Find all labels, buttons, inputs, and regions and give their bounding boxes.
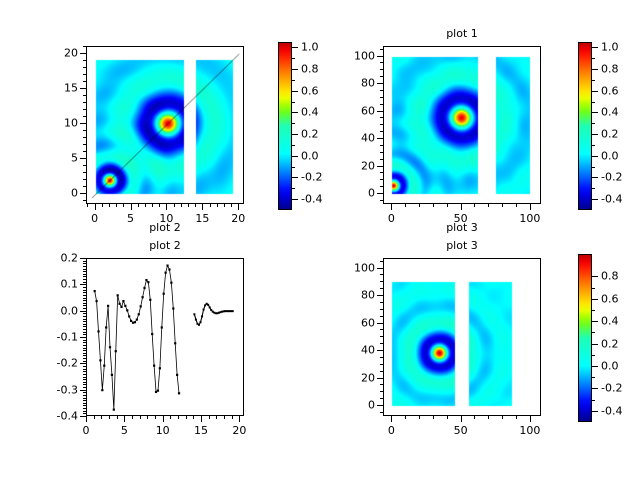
y-minor-tick xyxy=(380,288,383,289)
x-minor-tick xyxy=(101,416,102,419)
x-minor-tick xyxy=(447,204,448,207)
data-point xyxy=(195,319,197,321)
data-point xyxy=(198,324,200,326)
x-minor-tick xyxy=(152,204,153,207)
x-minor-tick xyxy=(181,204,182,207)
data-point xyxy=(176,374,178,376)
x-minor-tick xyxy=(405,416,406,419)
y-minor-tick xyxy=(83,342,86,343)
data-point xyxy=(153,365,155,367)
x-tick xyxy=(131,204,132,210)
colorbar-tick xyxy=(592,112,598,113)
data-point xyxy=(151,333,153,335)
y-tick-label: 10 xyxy=(56,118,78,129)
y-minor-tick xyxy=(83,279,86,280)
y-tick xyxy=(377,83,383,84)
colorbar-minor-tick xyxy=(592,310,595,311)
y-tick-label: 100 xyxy=(353,262,375,273)
y-minor-tick xyxy=(83,263,86,264)
colorbar-minor-tick xyxy=(592,188,595,189)
y-minor-tick xyxy=(83,403,86,404)
data-point xyxy=(134,321,136,323)
colorbar-minor-tick xyxy=(592,355,595,356)
colorbar-minor-tick xyxy=(592,58,595,59)
y-minor-tick xyxy=(380,179,383,180)
x-tick xyxy=(461,204,462,210)
x-minor-tick xyxy=(138,204,139,207)
x-tick xyxy=(391,204,392,210)
y-minor-tick xyxy=(83,179,86,180)
x-tick-label: 5 xyxy=(121,425,128,436)
y-minor-tick xyxy=(380,186,383,187)
y-minor-tick xyxy=(380,357,383,358)
y-minor-tick xyxy=(380,69,383,70)
data-point xyxy=(172,307,174,309)
y-tick xyxy=(80,311,86,312)
panel-top-left-axes xyxy=(86,46,244,204)
colorbar-tick xyxy=(592,91,598,92)
y-tick xyxy=(377,405,383,406)
colorbar-minor-tick xyxy=(592,377,595,378)
y-minor-tick xyxy=(83,295,86,296)
data-point xyxy=(168,268,170,270)
colorbar-minor-tick xyxy=(292,80,295,81)
y-tick-label: 0.2 xyxy=(56,253,78,264)
data-point xyxy=(207,304,209,306)
y-minor-tick xyxy=(380,200,383,201)
y-minor-tick xyxy=(380,391,383,392)
colorbar-tick-label: 0.0 xyxy=(601,150,619,161)
colorbar-tick xyxy=(592,388,598,389)
y-tick-label: 15 xyxy=(56,83,78,94)
data-point xyxy=(115,350,117,352)
colorbar-tick-label: 0.0 xyxy=(601,361,619,372)
y-minor-tick xyxy=(380,412,383,413)
y-minor-tick xyxy=(83,350,86,351)
data-point xyxy=(170,282,172,284)
y-tick xyxy=(80,123,86,124)
figure-canvas: 05101520051015201.00.80.60.40.20.0-0.2-0… xyxy=(0,0,640,480)
data-point xyxy=(94,290,96,292)
y-minor-tick xyxy=(83,266,86,267)
y-minor-tick xyxy=(380,159,383,160)
colorbar-tick-label: 0.6 xyxy=(601,293,619,304)
y-minor-tick xyxy=(83,67,86,68)
y-minor-tick xyxy=(83,371,86,372)
y-minor-tick xyxy=(83,413,86,414)
x-minor-tick xyxy=(195,204,196,207)
colorbar-tick xyxy=(592,156,598,157)
colorbar-tick xyxy=(592,299,598,300)
y-tick xyxy=(377,295,383,296)
y-minor-tick xyxy=(83,408,86,409)
colorbar-minor-tick xyxy=(592,102,595,103)
panel-top-left-xlabel: plot 2 xyxy=(86,222,244,234)
x-tick-label: 0 xyxy=(83,425,90,436)
y-minor-tick xyxy=(380,336,383,337)
x-minor-tick xyxy=(178,416,179,419)
data-point xyxy=(201,315,203,317)
y-minor-tick xyxy=(380,104,383,105)
y-minor-tick xyxy=(380,364,383,365)
x-tick xyxy=(95,204,96,210)
x-minor-tick xyxy=(210,204,211,207)
colorbar-tick xyxy=(292,134,298,135)
x-minor-tick xyxy=(419,204,420,207)
x-minor-tick xyxy=(231,204,232,207)
y-tick xyxy=(80,363,86,364)
colorbar-tick xyxy=(592,366,598,367)
x-minor-tick xyxy=(488,204,489,207)
colorbar-minor-tick xyxy=(292,123,295,124)
y-minor-tick xyxy=(380,302,383,303)
panel-bottom-left-lines xyxy=(87,259,244,416)
x-minor-tick xyxy=(174,204,175,207)
y-minor-tick xyxy=(380,62,383,63)
x-minor-tick xyxy=(405,204,406,207)
panel-top-left-image xyxy=(87,47,244,204)
y-tick xyxy=(377,378,383,379)
colorbar-tick xyxy=(292,177,298,178)
y-tick xyxy=(377,138,383,139)
y-minor-tick xyxy=(83,361,86,362)
colorbar-minor-tick xyxy=(292,102,295,103)
colorbar-tick xyxy=(292,91,298,92)
y-minor-tick xyxy=(83,60,86,61)
panel-top-right-image xyxy=(384,47,541,204)
colorbar-tick-label: 1.0 xyxy=(601,42,619,53)
y-tick-label: 60 xyxy=(353,317,375,328)
y-minor-tick xyxy=(83,348,86,349)
x-minor-tick xyxy=(224,416,225,419)
y-minor-tick xyxy=(83,358,86,359)
panel-top-right-title: plot 1 xyxy=(383,28,541,40)
y-tick-label: 0.1 xyxy=(56,279,78,290)
y-minor-tick xyxy=(83,340,86,341)
panel-bottom-right-image xyxy=(384,259,541,416)
x-minor-tick xyxy=(123,204,124,207)
x-tick xyxy=(530,416,531,422)
data-point xyxy=(128,315,130,317)
data-point xyxy=(99,359,101,361)
y-minor-tick xyxy=(83,186,86,187)
colorbar-tick-label: 0.4 xyxy=(301,107,319,118)
y-minor-tick xyxy=(83,165,86,166)
y-minor-tick xyxy=(83,81,86,82)
x-minor-tick xyxy=(216,416,217,419)
colorbar-tick-label: 0.8 xyxy=(601,64,619,75)
data-point xyxy=(103,365,105,367)
data-point xyxy=(119,303,121,305)
x-minor-tick xyxy=(502,204,503,207)
y-minor-tick xyxy=(380,90,383,91)
data-point xyxy=(101,389,103,391)
y-minor-tick xyxy=(83,377,86,378)
y-minor-tick xyxy=(83,400,86,401)
x-minor-tick xyxy=(516,204,517,207)
colorbar-minor-tick xyxy=(592,123,595,124)
y-minor-tick xyxy=(380,261,383,262)
y-minor-tick xyxy=(83,374,86,375)
colorbar-tick xyxy=(592,177,598,178)
x-minor-tick xyxy=(155,416,156,419)
y-tick xyxy=(377,268,383,269)
y-minor-tick xyxy=(380,343,383,344)
x-tick-label: 15 xyxy=(194,425,208,436)
y-minor-tick xyxy=(83,405,86,406)
y-minor-tick xyxy=(83,74,86,75)
data-point xyxy=(203,309,205,311)
colorbar-tick-label: -0.2 xyxy=(301,172,322,183)
y-minor-tick xyxy=(380,124,383,125)
x-minor-tick xyxy=(102,204,103,207)
panel-top-left-colorbar xyxy=(278,42,292,210)
y-minor-tick xyxy=(83,46,86,47)
y-tick-label: -0.1 xyxy=(56,332,78,343)
data-point xyxy=(174,342,176,344)
colorbar-tick-label: 1.0 xyxy=(301,42,319,53)
y-tick xyxy=(377,350,383,351)
y-minor-tick xyxy=(83,353,86,354)
y-tick xyxy=(80,53,86,54)
colorbar-minor-tick xyxy=(592,400,595,401)
x-minor-tick xyxy=(87,204,88,207)
y-tick-label: 40 xyxy=(353,133,375,144)
y-tick-label: -0.3 xyxy=(56,384,78,395)
data-point xyxy=(130,320,132,322)
x-minor-tick xyxy=(232,416,233,419)
y-minor-tick xyxy=(83,334,86,335)
y-minor-tick xyxy=(83,292,86,293)
y-tick-label: -0.2 xyxy=(56,358,78,369)
y-minor-tick xyxy=(380,76,383,77)
x-minor-tick xyxy=(109,204,110,207)
data-point xyxy=(105,326,107,328)
data-point xyxy=(142,296,144,298)
colorbar-minor-tick xyxy=(292,145,295,146)
data-point xyxy=(147,281,149,283)
x-tick xyxy=(239,416,240,422)
colorbar-tick-label: 0.8 xyxy=(601,271,619,282)
y-tick-label: 0 xyxy=(56,188,78,199)
y-minor-tick xyxy=(83,345,86,346)
y-tick-label: 40 xyxy=(353,345,375,356)
x-tick xyxy=(124,416,125,422)
x-minor-tick xyxy=(224,204,225,207)
y-minor-tick xyxy=(83,305,86,306)
x-minor-tick xyxy=(516,416,517,419)
y-minor-tick xyxy=(83,355,86,356)
colorbar-tick-label: -0.4 xyxy=(601,194,622,205)
colorbar-tick xyxy=(592,134,598,135)
x-minor-tick xyxy=(419,416,420,419)
colorbar-minor-tick xyxy=(292,167,295,168)
colorbar-tick xyxy=(592,69,598,70)
y-minor-tick xyxy=(380,371,383,372)
data-point xyxy=(161,326,163,328)
y-tick-label: 0 xyxy=(353,400,375,411)
y-minor-tick xyxy=(380,274,383,275)
y-minor-tick xyxy=(83,271,86,272)
data-point xyxy=(209,306,211,308)
y-tick xyxy=(80,193,86,194)
x-minor-tick xyxy=(132,416,133,419)
data-point xyxy=(200,321,202,323)
y-minor-tick xyxy=(83,395,86,396)
x-minor-tick xyxy=(159,204,160,207)
data-point xyxy=(165,272,167,274)
data-point xyxy=(163,293,165,295)
data-point xyxy=(126,309,128,311)
y-minor-tick xyxy=(83,329,86,330)
data-point xyxy=(107,305,109,307)
y-tick-label: 100 xyxy=(353,50,375,61)
y-minor-tick xyxy=(83,200,86,201)
x-tick-label: 0 xyxy=(388,425,395,436)
x-minor-tick xyxy=(433,204,434,207)
y-minor-tick xyxy=(83,303,86,304)
y-minor-tick xyxy=(83,382,86,383)
data-point xyxy=(117,294,119,296)
data-point xyxy=(193,313,195,315)
y-minor-tick xyxy=(380,316,383,317)
data-point xyxy=(166,264,168,266)
y-minor-tick xyxy=(83,144,86,145)
data-point xyxy=(155,391,157,393)
y-minor-tick xyxy=(83,326,86,327)
y-tick-label: 0 xyxy=(353,188,375,199)
y-minor-tick xyxy=(380,131,383,132)
y-minor-tick xyxy=(83,300,86,301)
data-point xyxy=(232,310,234,312)
x-tick xyxy=(391,416,392,422)
colorbar-tick xyxy=(592,321,598,322)
data-point xyxy=(124,305,126,307)
colorbar-tick xyxy=(592,344,598,345)
y-tick-label: 60 xyxy=(353,105,375,116)
x-minor-tick xyxy=(209,416,210,419)
y-minor-tick xyxy=(83,137,86,138)
line-series-1 xyxy=(95,266,179,410)
x-minor-tick xyxy=(140,416,141,419)
colorbar-tick-label: 0.6 xyxy=(601,85,619,96)
data-point xyxy=(140,305,142,307)
colorbar-tick-label: -0.4 xyxy=(301,194,322,205)
colorbar-minor-tick xyxy=(292,58,295,59)
y-minor-tick xyxy=(83,411,86,412)
y-tick-label: 20 xyxy=(353,160,375,171)
colorbar-minor-tick xyxy=(592,167,595,168)
x-tick-label: 20 xyxy=(232,425,246,436)
y-minor-tick xyxy=(83,321,86,322)
x-minor-tick xyxy=(188,204,189,207)
x-minor-tick xyxy=(502,416,503,419)
colorbar-tick xyxy=(592,411,598,412)
y-minor-tick xyxy=(83,392,86,393)
colorbar-tick-label: 0.2 xyxy=(301,129,319,140)
colorbar-minor-tick xyxy=(592,145,595,146)
y-tick-label: -0.4 xyxy=(56,411,78,422)
y-minor-tick xyxy=(83,274,86,275)
y-minor-tick xyxy=(83,369,86,370)
x-minor-tick xyxy=(193,416,194,419)
y-minor-tick xyxy=(83,313,86,314)
x-tick xyxy=(202,204,203,210)
x-tick xyxy=(238,204,239,210)
x-tick-label: 10 xyxy=(156,425,170,436)
colorbar-tick xyxy=(292,199,298,200)
y-minor-tick xyxy=(83,398,86,399)
y-minor-tick xyxy=(380,172,383,173)
x-minor-tick xyxy=(94,416,95,419)
y-tick xyxy=(377,193,383,194)
colorbar-tick xyxy=(292,47,298,48)
y-minor-tick xyxy=(380,145,383,146)
y-minor-tick xyxy=(83,287,86,288)
y-tick-label: 20 xyxy=(56,48,78,59)
panel-bottom-right-title: plot 3 xyxy=(383,240,541,252)
data-point xyxy=(138,313,140,315)
panel-bottom-right-colorbar xyxy=(578,254,592,422)
panel-top-right-xlabel: plot 3 xyxy=(383,222,541,234)
x-minor-tick xyxy=(186,416,187,419)
y-minor-tick xyxy=(83,316,86,317)
y-tick-label: 80 xyxy=(353,290,375,301)
data-point xyxy=(120,306,122,308)
data-point xyxy=(157,390,159,392)
colorbar-tick xyxy=(592,276,598,277)
y-tick xyxy=(80,284,86,285)
data-point xyxy=(159,367,161,369)
colorbar-tick xyxy=(292,156,298,157)
colorbar-tick xyxy=(292,69,298,70)
x-tick xyxy=(166,204,167,210)
x-minor-tick xyxy=(147,416,148,419)
y-tick xyxy=(80,88,86,89)
y-minor-tick xyxy=(83,95,86,96)
y-tick-label: 5 xyxy=(56,153,78,164)
data-point xyxy=(113,409,115,411)
y-minor-tick xyxy=(380,384,383,385)
x-tick xyxy=(163,416,164,422)
panel-top-right-colorbar xyxy=(578,42,592,210)
x-minor-tick xyxy=(117,416,118,419)
y-minor-tick xyxy=(380,152,383,153)
y-minor-tick xyxy=(83,151,86,152)
y-minor-tick xyxy=(380,49,383,50)
panel-bottom-right-axes xyxy=(383,258,541,416)
y-minor-tick xyxy=(83,102,86,103)
y-minor-tick xyxy=(83,261,86,262)
x-tick-label: 50 xyxy=(454,425,468,436)
x-minor-tick xyxy=(447,416,448,419)
y-minor-tick xyxy=(380,398,383,399)
y-tick-label: 80 xyxy=(353,78,375,89)
y-minor-tick xyxy=(83,172,86,173)
y-minor-tick xyxy=(83,290,86,291)
panel-bottom-left-axes xyxy=(86,258,244,416)
y-tick xyxy=(80,337,86,338)
panel-top-right-axes xyxy=(383,46,541,204)
y-minor-tick xyxy=(83,324,86,325)
x-minor-tick xyxy=(474,204,475,207)
y-minor-tick xyxy=(380,309,383,310)
colorbar-tick-label: 0.8 xyxy=(301,64,319,75)
y-tick xyxy=(80,416,86,417)
data-point xyxy=(132,322,134,324)
x-tick xyxy=(201,416,202,422)
data-point xyxy=(111,374,113,376)
